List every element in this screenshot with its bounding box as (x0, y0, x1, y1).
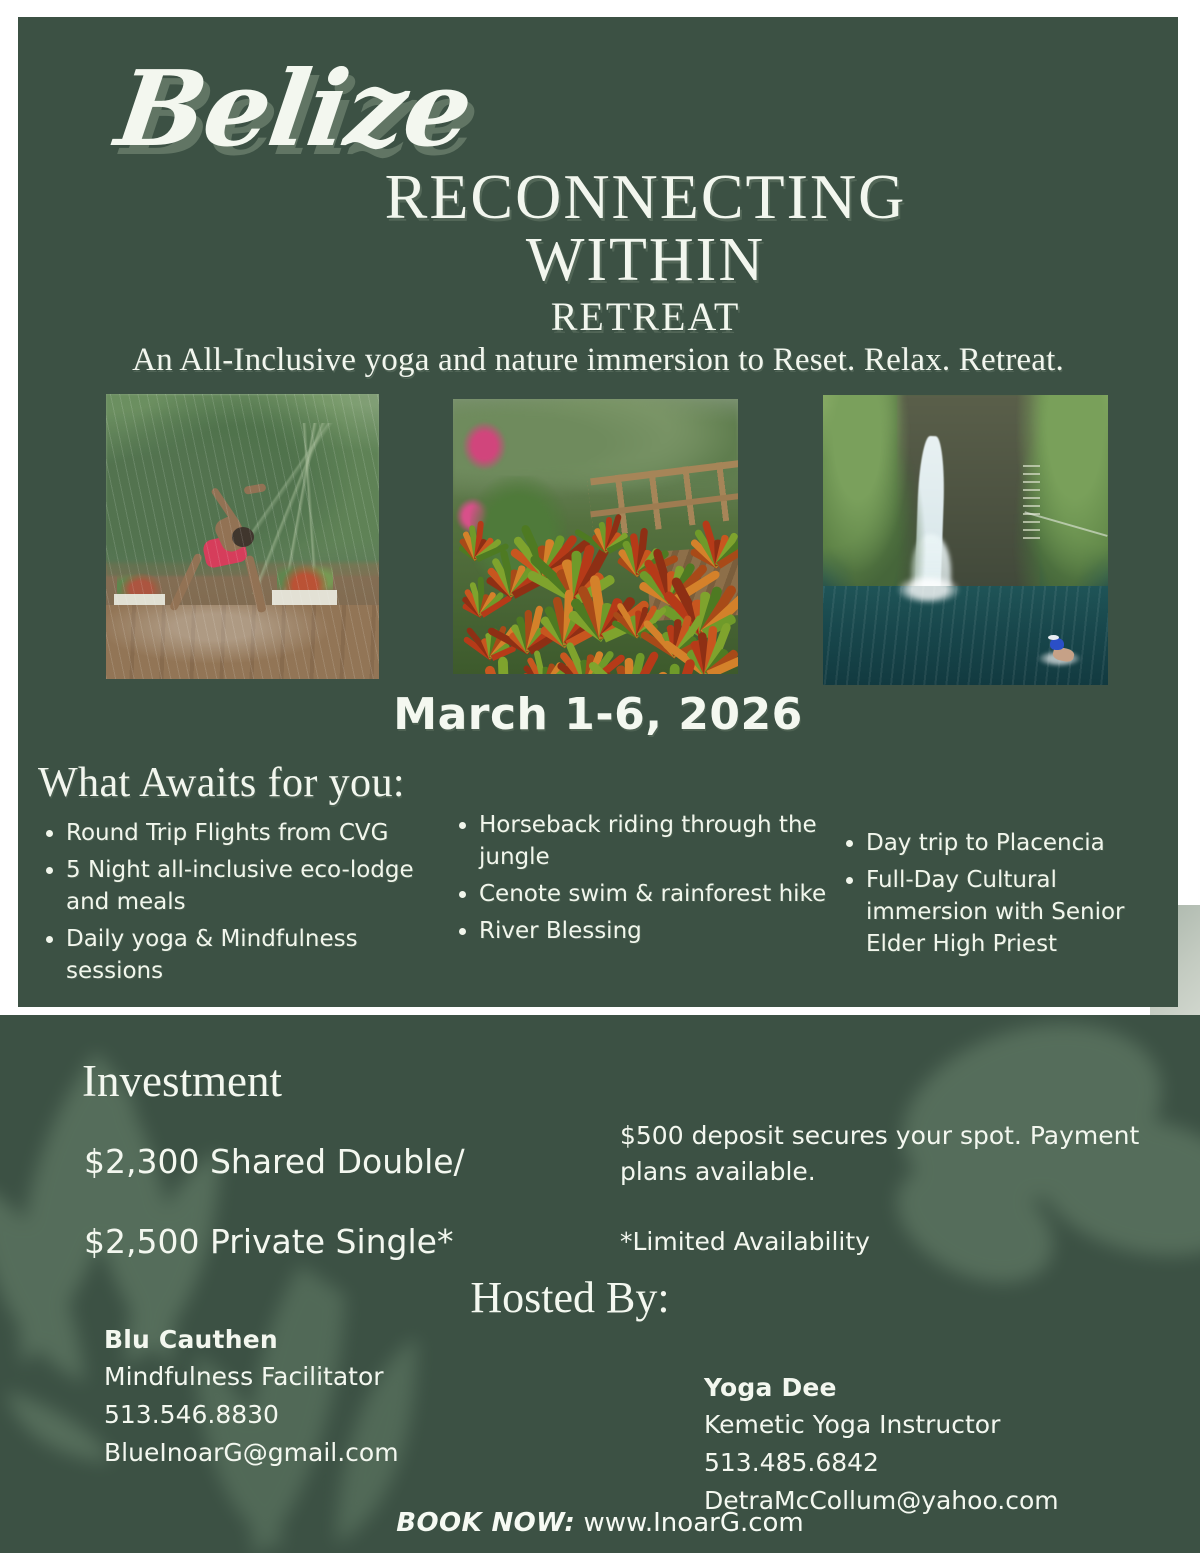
inclusions-column-3: Day trip to Placencia Full-Day Cultural … (840, 827, 1178, 965)
list-item: Cenote swim & rainforest hike (453, 878, 833, 910)
host-blu-cauthen: Blu Cauthen Mindfulness Facilitator 513.… (104, 1322, 399, 1472)
book-now-label: BOOK NOW: (396, 1508, 575, 1538)
host-phone[interactable]: 513.485.6842 (704, 1444, 1059, 1482)
deposit-note: $500 deposit secures your spot. Payment … (620, 1118, 1180, 1190)
retreat-dates: March 1-6, 2026 (18, 689, 1178, 740)
main-title-block: RECONNECTING WITHIN RETREAT (18, 167, 1178, 341)
top-card: Belize RECONNECTING WITHIN RETREAT An Al… (18, 17, 1178, 1007)
photo-strip (18, 377, 1178, 677)
list-item: Round Trip Flights from CVG (40, 817, 440, 849)
investment-heading: Investment (82, 1055, 282, 1107)
price-shared-double: $2,300 Shared Double/ (84, 1142, 465, 1181)
book-now-url[interactable]: www.InoarG.com (583, 1508, 803, 1538)
title-line-within: WITHIN (18, 227, 1178, 293)
limited-availability-note: *Limited Availability (620, 1227, 870, 1256)
title-line-reconnecting: RECONNECTING (18, 167, 1178, 227)
host-name: Yoga Dee (704, 1370, 1059, 1406)
waterfall-photo (823, 395, 1108, 685)
jungle-bridge-photo (453, 399, 738, 674)
host-role: Mindfulness Facilitator (104, 1358, 399, 1396)
inclusions-columns: Round Trip Flights from CVG 5 Night all-… (18, 812, 1178, 1007)
list-item: Day trip to Placencia (840, 827, 1178, 859)
yoga-in-rain-photo (106, 394, 379, 679)
retreat-flyer: Belize RECONNECTING WITHIN RETREAT An Al… (0, 0, 1200, 1553)
croton-plant (686, 495, 738, 566)
list-item: Full-Day Cultural immersion with Senior … (840, 864, 1178, 960)
what-awaits-heading: What Awaits for you: (38, 759, 405, 807)
host-role: Kemetic Yoga Instructor (704, 1406, 1059, 1444)
hosted-by-heading: Hosted By: (0, 1272, 1200, 1323)
tagline: An All-Inclusive yoga and nature immersi… (18, 342, 1178, 379)
title-line-retreat: RETREAT (18, 293, 1178, 341)
script-title-belize: Belize (109, 47, 479, 170)
list-item: 5 Night all-inclusive eco-lodge and meal… (40, 854, 440, 918)
list-item: Daily yoga & Mindfulness sessions (40, 923, 440, 987)
book-now-footer: BOOK NOW: www.InoarG.com (0, 1508, 1200, 1538)
inclusions-column-1: Round Trip Flights from CVG 5 Night all-… (40, 817, 440, 992)
list-item: River Blessing (453, 915, 833, 947)
host-email[interactable]: BlueInoarG@gmail.com (104, 1434, 399, 1472)
croton-plant (628, 624, 707, 674)
list-item: Horseback riding through the jungle (453, 809, 833, 873)
host-name: Blu Cauthen (104, 1322, 399, 1358)
host-phone[interactable]: 513.546.8830 (104, 1396, 399, 1434)
host-yoga-dee: Yoga Dee Kemetic Yoga Instructor 513.485… (704, 1370, 1059, 1520)
price-private-single: $2,500 Private Single* (84, 1222, 453, 1261)
inclusions-column-2: Horseback riding through the jungle Ceno… (453, 809, 833, 952)
croton-plant (453, 501, 498, 560)
